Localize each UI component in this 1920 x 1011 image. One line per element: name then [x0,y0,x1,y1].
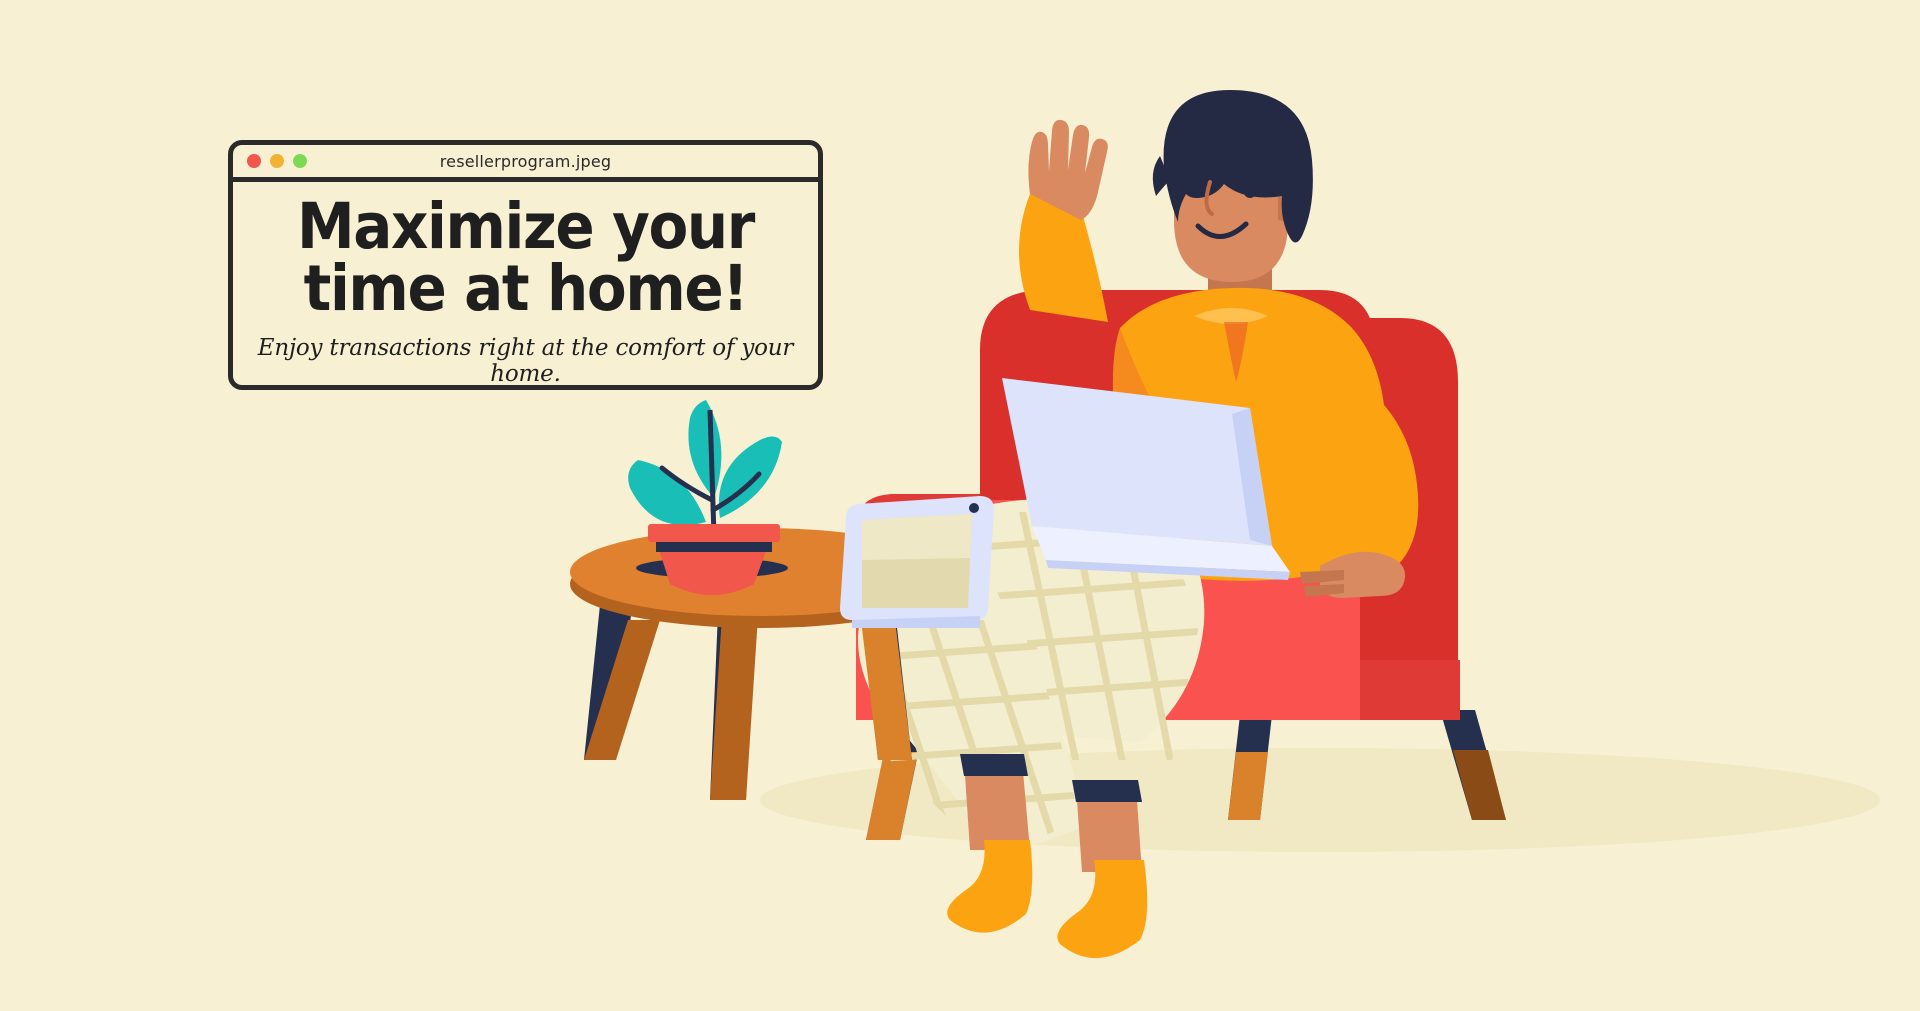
minimize-dot-icon[interactable] [270,154,284,168]
banner-canvas: resellerprogram.jpeg Maximize your time … [0,0,1920,1011]
window-title-bar: resellerprogram.jpeg [233,145,818,182]
leaf-center [688,400,721,498]
laptop-group [1002,378,1290,580]
pot-rim [648,524,780,542]
file-preview-window[interactable]: resellerprogram.jpeg Maximize your time … [228,140,823,390]
tablet-camera-icon [969,503,979,513]
window-content: Maximize your time at home! Enjoy transa… [233,182,818,390]
cuff-front [1072,780,1142,802]
tablet-group [840,496,994,628]
page-subtitle: Enjoy transactions right at the comfort … [255,335,796,387]
eye-left [1192,186,1204,198]
close-dot-icon[interactable] [247,154,261,168]
eye-right [1244,186,1256,198]
potted-plant-group [628,400,788,595]
page-title: Maximize your time at home! [277,196,775,319]
tablet-screen-top [862,514,972,560]
maximize-dot-icon[interactable] [293,154,307,168]
traffic-light-controls [247,154,307,168]
leaf-right [719,436,782,518]
sock-back [947,840,1032,933]
cuff-back [960,754,1028,776]
window-filename: resellerprogram.jpeg [233,152,818,171]
headline-line-2: time at home! [304,252,748,325]
pot-rim-shadow [656,542,772,552]
sock-front [1057,860,1147,958]
